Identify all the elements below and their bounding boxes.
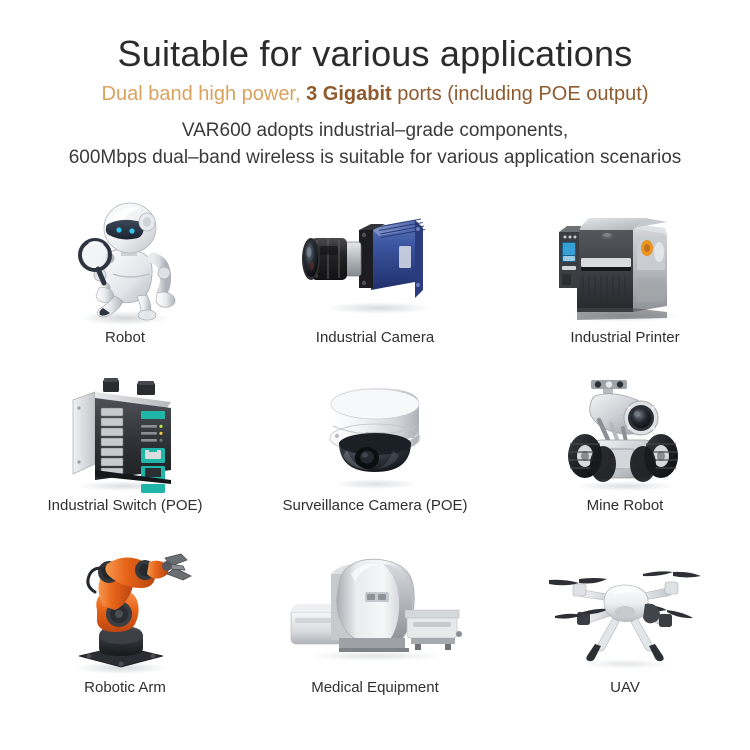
dome-camera-icon [287,370,463,496]
body-line-2: 600Mbps dual–band wireless is suitable f… [0,145,750,171]
mine-robot-icon [537,370,713,496]
subtitle: Dual band high power, 3 Gigabit ports (i… [0,83,750,105]
grid-cell-surveillance-camera: Surveillance Camera (POE) [250,370,500,544]
grid-row: Industrial Switch (POE) [0,370,750,544]
grid-cell-robotic-arm: Robotic Arm [0,544,250,718]
grid-cell-medical-equipment: Medical Equipment [250,544,500,718]
caption: Industrial Camera [316,330,434,347]
grid-cell-industrial-camera: Industrial Camera [250,196,500,370]
marketing-page: Suitable for various applications Dual b… [0,0,750,750]
caption: Surveillance Camera (POE) [282,498,467,515]
industrial-switch-icon [37,370,213,496]
grid-cell-uav: UAV [500,544,750,718]
robot-icon [37,196,213,328]
industrial-camera-icon [287,196,463,328]
caption: Mine Robot [587,498,664,515]
application-grid: Robot [0,196,750,718]
caption: Industrial Printer [570,330,679,347]
body-line-1: VAR600 adopts industrial–grade component… [0,118,750,144]
caption: Medical Equipment [311,680,439,697]
header: Suitable for various applications Dual b… [0,0,750,171]
uav-drone-icon [537,544,713,678]
caption: Industrial Switch (POE) [47,498,202,515]
subtitle-highlight: 3 Gigabit [306,83,392,105]
grid-cell-robot: Robot [0,196,250,370]
caption: Robotic Arm [84,680,166,697]
grid-cell-industrial-printer: Industrial Printer [500,196,750,370]
grid-cell-mine-robot: Mine Robot [500,370,750,544]
robotic-arm-icon [37,544,213,678]
grid-row: Robot [0,196,750,370]
subtitle-part-1: Dual band high power, [102,83,307,105]
industrial-printer-icon [537,196,713,328]
body-copy: VAR600 adopts industrial–grade component… [0,118,750,170]
page-title: Suitable for various applications [0,34,750,74]
grid-row: Robotic Arm [0,544,750,718]
caption: UAV [610,680,640,697]
subtitle-part-3: ports (including POE output) [392,83,649,105]
medical-scanner-icon [287,544,463,678]
grid-cell-industrial-switch: Industrial Switch (POE) [0,370,250,544]
caption: Robot [105,330,145,347]
